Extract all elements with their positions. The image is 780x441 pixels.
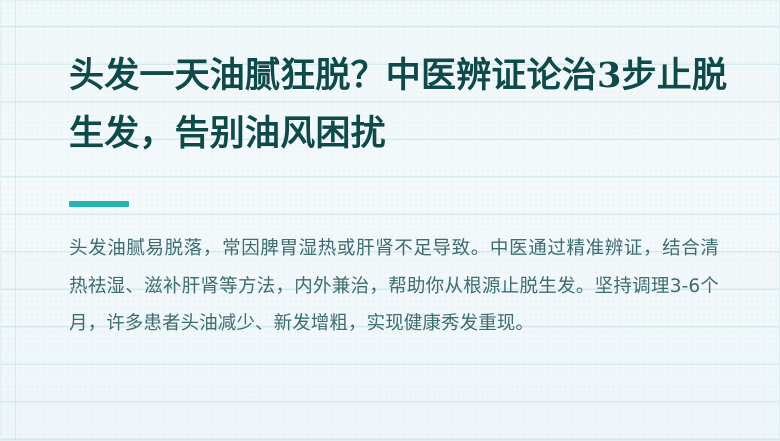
page-title: 头发一天油腻狂脱？中医辨证论治3步止脱生发，告别油风困扰	[69, 47, 729, 163]
left-gutter-rule	[15, 1, 16, 441]
accent-divider	[69, 201, 129, 207]
card-content: 头发一天油腻狂脱？中医辨证论治3步止脱生发，告别油风困扰 头发油腻易脱落，常因脾…	[69, 1, 729, 441]
article-card: 头发一天油腻狂脱？中医辨证论治3步止脱生发，告别油风困扰 头发油腻易脱落，常因脾…	[0, 0, 780, 441]
body-paragraph: 头发油腻易脱落，常因脾胃湿热或肝肾不足导致。中医通过精准辨证，结合清热祛湿、滋补…	[69, 230, 719, 343]
